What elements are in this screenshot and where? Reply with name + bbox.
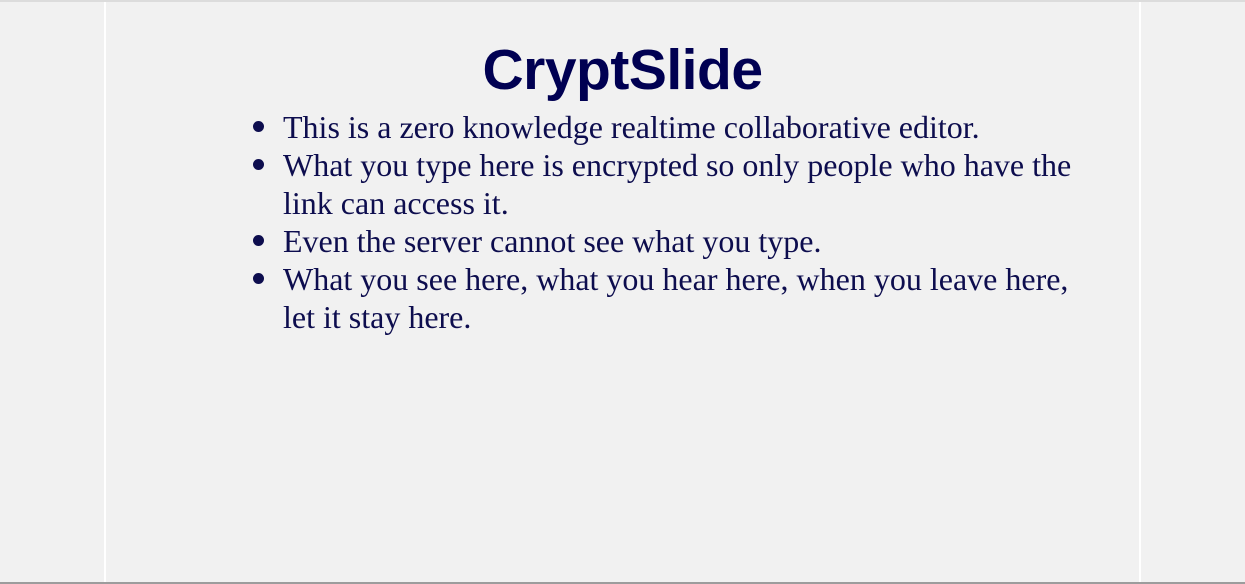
slide-viewer: CryptSlide This is a zero knowledge real… <box>0 0 1245 584</box>
page-title[interactable]: CryptSlide <box>106 2 1139 102</box>
list-item-label: What you type here is encrypted so only … <box>283 146 1079 222</box>
slide-canvas[interactable]: CryptSlide This is a zero knowledge real… <box>104 2 1141 582</box>
list-item-label: Even the server cannot see what you type… <box>283 222 1079 260</box>
list-item[interactable]: Even the server cannot see what you type… <box>106 222 1139 260</box>
list-item[interactable]: What you see here, what you hear here, w… <box>106 260 1139 336</box>
bullet-dot-icon <box>253 159 264 170</box>
list-item[interactable]: What you type here is encrypted so only … <box>106 146 1139 222</box>
bullet-dot-icon <box>253 235 264 246</box>
left-gutter <box>0 2 104 582</box>
bullet-dot-icon <box>253 273 264 284</box>
right-gutter <box>1141 2 1245 582</box>
bullet-list: This is a zero knowledge realtime collab… <box>106 108 1139 336</box>
bullet-dot-icon <box>253 121 264 132</box>
list-item-label: This is a zero knowledge realtime collab… <box>283 108 1079 146</box>
list-item[interactable]: This is a zero knowledge realtime collab… <box>106 108 1139 146</box>
list-item-label: What you see here, what you hear here, w… <box>283 260 1079 336</box>
